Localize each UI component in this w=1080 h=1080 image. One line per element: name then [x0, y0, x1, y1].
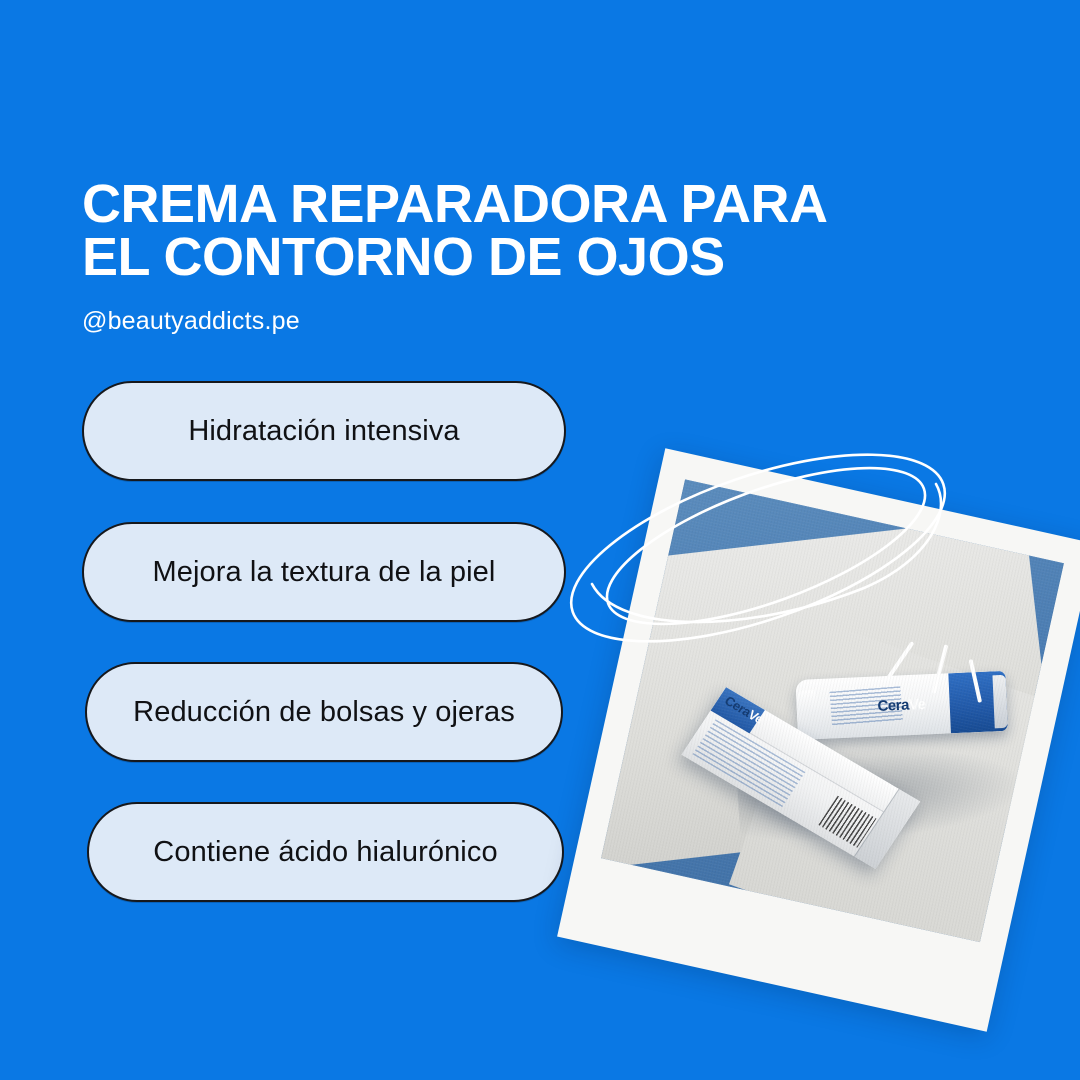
sparkle-ray	[932, 644, 948, 693]
feature-chip[interactable]: Reducción de bolsas y ojeras	[85, 662, 563, 762]
feature-chip-label: Hidratación intensiva	[188, 415, 459, 448]
sparkle-ray	[969, 659, 982, 703]
feature-chip[interactable]: Contiene ácido hialurónico	[87, 802, 564, 902]
page-title: CREMA REPARADORA PARA EL CONTORNO DE OJO…	[82, 178, 882, 284]
product-photo-container: CeraVe CeraVe	[596, 470, 1080, 1030]
feature-chip[interactable]: Hidratación intensiva	[82, 381, 566, 481]
poster-canvas: CREMA REPARADORA PARA EL CONTORNO DE OJO…	[0, 0, 1080, 1080]
feature-chip-label: Reducción de bolsas y ojeras	[133, 696, 515, 729]
product-photo: CeraVe CeraVe	[601, 479, 1064, 942]
social-handle: @beautyaddicts.pe	[82, 307, 300, 336]
headline-line-2: EL CONTORNO DE OJOS	[82, 231, 882, 284]
feature-chip[interactable]: Mejora la textura de la piel	[82, 522, 566, 622]
polaroid-frame: CeraVe CeraVe	[557, 448, 1080, 1031]
tube-nose	[796, 690, 817, 729]
headline-line-1: CREMA REPARADORA PARA	[82, 178, 882, 231]
feature-chip-label: Mejora la textura de la piel	[153, 556, 496, 589]
feature-chip-label: Contiene ácido hialurónico	[153, 836, 497, 869]
